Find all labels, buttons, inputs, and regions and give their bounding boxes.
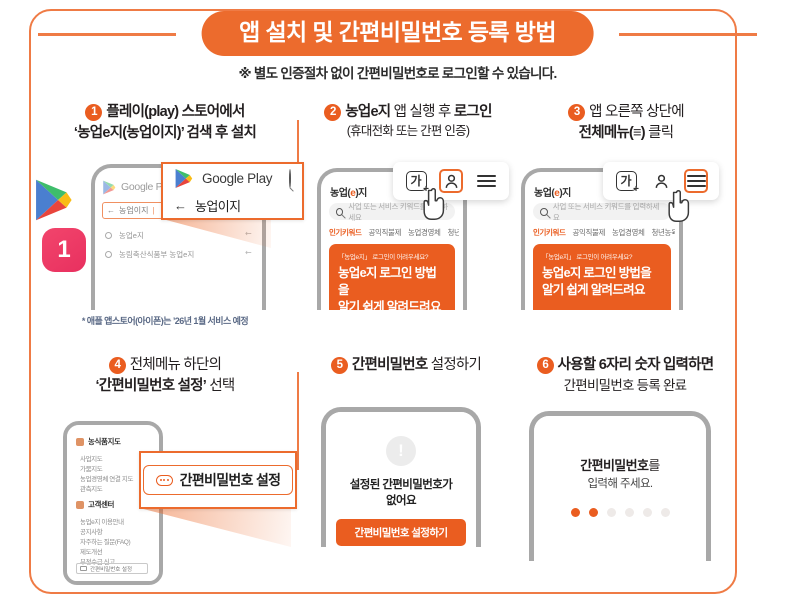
menu-item[interactable]: 가뭄지도 [80, 463, 102, 473]
step-1: 1플레이(play) 스토어에서 ‘농업e지(농업이지)’ 검색 후 설치 1 [31, 100, 299, 345]
app-logo-mark: e [350, 188, 355, 199]
login-help-card-small: 「농업e지」 로그인이 어려우세요? [542, 251, 662, 261]
login-help-card[interactable]: 「농업e지」 로그인이 어려우세요? 농업e지 로그인 방법을 알기 쉽게 알려… [533, 244, 671, 310]
pin-dot-empty [643, 508, 652, 517]
menu-item[interactable]: 농업경영체 연결 지도 [80, 473, 133, 483]
step-1-callout: Google Play ← 농업이지 [161, 162, 304, 220]
keyword-chip[interactable]: 농업경영체 [408, 227, 441, 238]
app-logo-left: 농업 [534, 188, 551, 199]
section-icon [76, 438, 84, 446]
pin-dot-empty [607, 508, 616, 517]
step-1-footnote: * 애플 앱스토어(아이폰)는 ’26년 1월 서비스 예정 [31, 314, 299, 327]
step-5-message-line1: 설정된 간편비밀번호가 [326, 477, 476, 493]
menu-item[interactable]: 자주하는 질문(FAQ) [80, 536, 130, 546]
search-icon [105, 232, 112, 239]
menu-section-label: 고객센터 [88, 499, 114, 510]
step-5-caption-strong: 간편비밀번호 [352, 357, 428, 373]
app-logo: 농업(e)지 [330, 184, 367, 199]
step-5-message: 설정된 간편비밀번호가 없어요 [326, 477, 476, 510]
step-6-prompt-tail: 를 [648, 458, 659, 473]
step-2-iconbar: 가 + [393, 162, 509, 200]
login-help-card[interactable]: 「농업e지」 로그인이 어려우세요? 농업e지 로그인 방법을 알기 쉽게 알려… [329, 244, 455, 310]
step-6-badge: 6 [537, 357, 554, 374]
step-6-prompt-line2: 입력해 주세요. [534, 476, 706, 493]
step-6-caption: 6사용할 6자리 숫자 입력하면 간편비밀번호 등록 완료 [511, 355, 739, 395]
app-logo-left: 농업 [330, 188, 347, 199]
simple-password-setting-pill[interactable]: 간편비밀번호 설정 [143, 465, 294, 495]
menu-section-title: 농식품지도 [76, 436, 121, 447]
step-6-caption-line1: 사용할 6자리 숫자 입력하면 [558, 357, 714, 373]
step-1-caption-line1: 플레이(play) 스토어에서 [106, 104, 244, 120]
search-icon [105, 251, 112, 258]
pin-dot-empty [661, 508, 670, 517]
step-4: 4전체메뉴 하단의 ‘간편비밀번호 설정’ 선택 농식품지도 사업지도 가뭄지도… [31, 353, 299, 592]
menu-item[interactable]: 사업지도 [80, 453, 102, 463]
app-logo: 농업(e)지 [534, 184, 571, 199]
step-5-badge: 5 [331, 357, 348, 374]
pointer-hand-icon [666, 188, 696, 222]
step-2-caption-strong: 농업e지 [345, 104, 390, 120]
page-title: 앱 설치 및 간편비밀번호 등록 방법 [201, 11, 594, 56]
step-2-caption: 2농업e지 앱 실행 후 로그인 (휴대전화 또는 간편 인증) [293, 102, 523, 140]
pin-dot-empty [625, 508, 634, 517]
plus-icon: + [633, 184, 639, 195]
agri-app-icon-label: 1 [57, 238, 70, 262]
popular-keywords-label: 인기키워드 [329, 227, 362, 238]
step-3-iconbar: 가 + [603, 162, 719, 200]
step-3-caption: 3앱 오른쪽 상단에 전체메뉴(≡) 클릭 [513, 102, 739, 143]
step-5-caption: 5간편비밀번호 설정하기 [293, 355, 519, 376]
step-3-caption-tail: 클릭 [645, 125, 673, 141]
step-1-badge: 1 [85, 104, 102, 121]
keyword-chip[interactable]: 청년농육성시 [652, 227, 676, 238]
back-icon[interactable]: ← [107, 206, 115, 215]
login-help-card-line1: 농업e지 로그인 방법을 [542, 265, 662, 282]
app-logo-right: 지 [358, 188, 367, 199]
menu-section-title: 고객센터 [76, 499, 114, 510]
step-6: 6사용할 6자리 숫자 입력하면 간편비밀번호 등록 완료 간편비밀번호를 입력… [517, 353, 735, 592]
pin-indicator [534, 508, 706, 517]
step-1-caption-line2: ‘농업e지(농업이지)’ 검색 후 설치 [74, 125, 256, 141]
play-store-search-value: 농업이지 [119, 205, 148, 216]
keyword-chip[interactable]: 청년농육성시 [448, 227, 460, 238]
poster-root: 앱 설치 및 간편비밀번호 등록 방법 ※ 별도 인증절차 없이 간편비밀번호로… [0, 0, 795, 613]
menu-item[interactable]: 제도개선 [80, 546, 102, 556]
step-6-prompt-strong: 간편비밀번호 [580, 458, 648, 473]
keypad-icon [156, 475, 173, 486]
step-5-caption-tail: 설정하기 [427, 357, 481, 373]
fill-query-icon[interactable]: ↖ [243, 247, 254, 258]
agri-app-icon: 1 [42, 228, 86, 272]
step-3: 3앱 오른쪽 상단에 전체메뉴(≡) 클릭 농업(e)지 사업 또는 서비스 키… [517, 100, 735, 345]
keyword-chip[interactable]: 농업경영체 [612, 227, 645, 238]
login-help-card-small: 「농업e지」 로그인이 어려우세요? [338, 251, 446, 261]
menu-section-label: 농식품지도 [88, 436, 121, 447]
pointer-hand-icon [421, 186, 451, 220]
suggestion-item[interactable]: 농림축산식품부 농업e지 [105, 249, 194, 260]
app-logo-mark: e [554, 188, 559, 199]
menu-item[interactable]: 공지사항 [80, 526, 102, 536]
steps-grid: 1플레이(play) 스토어에서 ‘농업e지(농업이지)’ 검색 후 설치 1 [31, 100, 735, 592]
popular-keywords-label: 인기키워드 [533, 227, 566, 238]
step-4-caption-tail: 선택 [206, 378, 234, 394]
step-4-caption: 4전체메뉴 하단의 ‘간편비밀번호 설정’ 선택 [31, 355, 299, 396]
app-search-placeholder: 사업 또는 서비스 키워드를 입력하세요 [553, 201, 664, 223]
search-icon [336, 208, 343, 216]
suggestion-label: 농업e지 [119, 230, 144, 241]
search-icon[interactable] [289, 170, 291, 188]
step-3-badge: 3 [568, 104, 585, 121]
pin-dot-filled [589, 508, 598, 517]
play-store-small-logo-icon [102, 180, 116, 195]
step-2-caption-line2: (휴대전화 또는 간편 인증) [347, 124, 470, 138]
app-search-input[interactable]: 사업 또는 서비스 키워드를 입력하세요 [533, 203, 671, 220]
alert-icon: ! [386, 436, 416, 466]
set-simple-password-button[interactable]: 간편비밀번호 설정하기 [336, 519, 466, 546]
step-2-badge: 2 [324, 104, 341, 121]
search-icon [540, 208, 548, 216]
step-1-caption: 1플레이(play) 스토어에서 ‘농업e지(농업이지)’ 검색 후 설치 [31, 102, 299, 143]
step-4-caption-line1: 전체메뉴 하단의 [130, 357, 221, 373]
simple-password-setting-label: 간편비밀번호 설정 [90, 565, 132, 573]
hamburger-menu-icon[interactable] [474, 169, 498, 193]
login-help-card-line1: 농업e지 로그인 방법을 [338, 265, 446, 299]
step-5-message-line2: 없어요 [326, 493, 476, 509]
step-5-phone-mock: ! 설정된 간편비밀번호가 없어요 간편비밀번호 설정하기 [321, 407, 481, 547]
popular-keywords: 인기키워드 공익직불제 농업경영체 청년농육성시 [329, 227, 459, 238]
step-3-caption-line1: 앱 오른쪽 상단에 [589, 104, 684, 120]
pin-dot-filled [571, 508, 580, 517]
step-2-caption-tail: 로그인 [454, 104, 492, 120]
keyword-chip[interactable]: 공익직불제 [369, 227, 402, 238]
simple-password-setting-pill-label: 간편비밀번호 설정 [180, 470, 281, 490]
back-icon[interactable]: ← [174, 198, 187, 213]
app-logo-right: 지 [562, 188, 571, 199]
login-help-card-line2: 알기 쉽게 알려드려요 [542, 282, 662, 299]
step-4-caption-strong: ‘간편비밀번호 설정’ [95, 378, 206, 394]
step-4-callout: 간편비밀번호 설정 [139, 451, 297, 509]
google-play-logo-icon [32, 178, 74, 222]
keyword-chip[interactable]: 공익직불제 [573, 227, 606, 238]
login-help-card-line2: 알기 쉽게 알려드려요 [338, 299, 446, 310]
google-play-logo-icon [174, 168, 193, 189]
page-subtitle: ※ 별도 인증절차 없이 간편비밀번호로 로그인할 수 있습니다. [0, 62, 795, 82]
step-3-caption-strong: 전체메뉴(≡) [579, 125, 645, 141]
title-rule-right [619, 33, 757, 36]
step-6-phone-mock: 간편비밀번호를 입력해 주세요. [529, 411, 711, 561]
simple-password-setting-button[interactable]: 간편비밀번호 설정 [76, 563, 148, 574]
keypad-icon [80, 566, 87, 571]
step-4-badge: 4 [109, 357, 126, 374]
callout-query: 농업이지 [195, 196, 240, 215]
menu-item[interactable]: 농업e지 이용안내 [80, 516, 124, 526]
step-2-caption-mid: 앱 실행 후 [390, 104, 453, 120]
suggestion-item[interactable]: 농업e지 [105, 230, 144, 241]
step-2: 2농업e지 앱 실행 후 로그인 (휴대전화 또는 간편 인증) 농업(e)지 … [299, 100, 517, 345]
step-6-prompt: 간편비밀번호를 입력해 주세요. [534, 456, 706, 493]
font-size-icon[interactable]: 가 + [614, 169, 638, 193]
step-5: 5간편비밀번호 설정하기 ! 설정된 간편비밀번호가 없어요 간편비밀번호 설정… [299, 353, 517, 592]
popular-keywords: 인기키워드 공익직불제 농업경영체 청년농육성시 [533, 227, 675, 238]
callout-brand: Google Play [202, 171, 272, 186]
title-rule-left [38, 33, 176, 36]
menu-item[interactable]: 관측지도 [80, 483, 102, 493]
step-6-caption-line2: 간편비밀번호 등록 완료 [564, 378, 687, 393]
suggestion-label: 농림축산식품부 농업e지 [119, 249, 194, 260]
section-icon [76, 501, 84, 509]
